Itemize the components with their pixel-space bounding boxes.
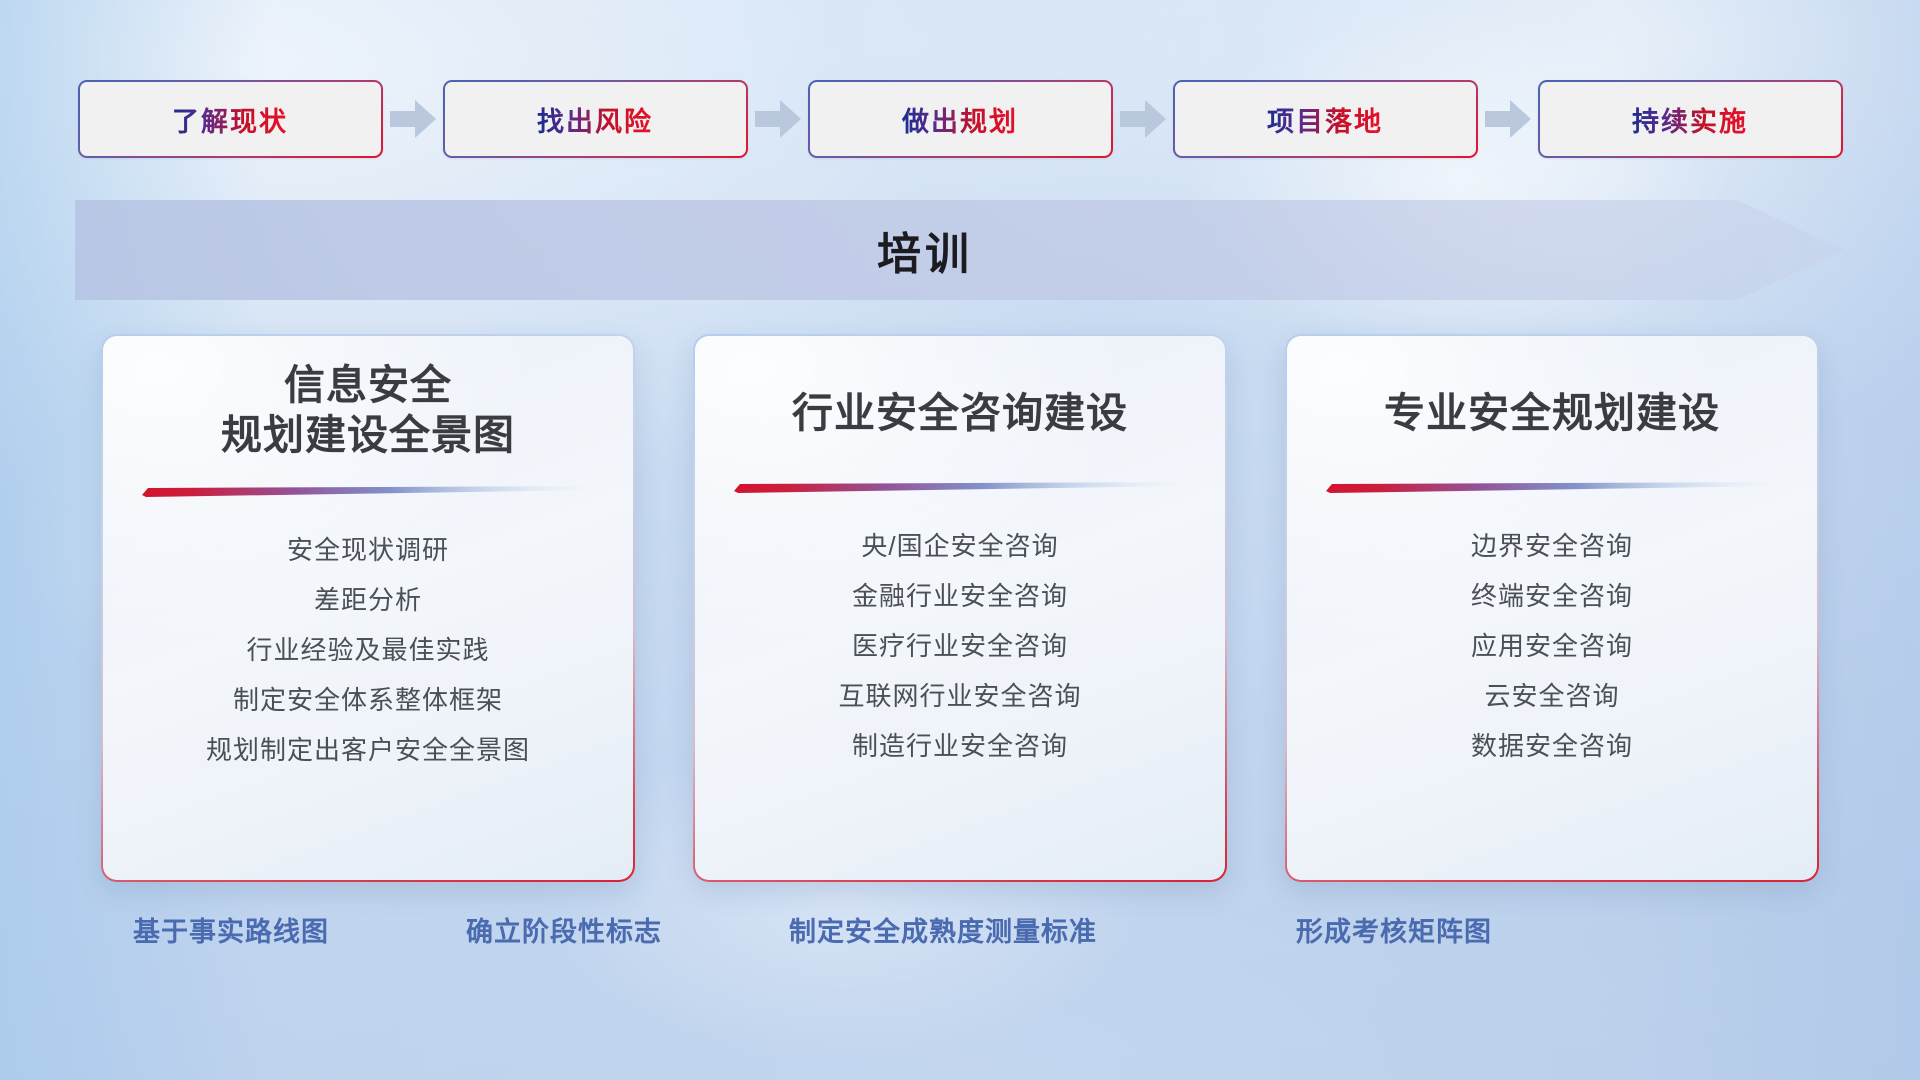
process-step-5-inner: 持续实施 <box>1540 82 1841 156</box>
right-arrow-icon <box>752 98 804 140</box>
list-item: 终端安全咨询 <box>1471 571 1633 621</box>
card-3-list: 边界安全咨询 终端安全咨询 应用安全咨询 云安全咨询 数据安全咨询 <box>1313 521 1791 771</box>
process-step-group-4: 项目落地 <box>1173 80 1538 158</box>
card-professional-security-planning[interactable]: 专业安全规划建设 <box>1285 334 1819 882</box>
process-step-5-label: 持续实施 <box>1632 100 1748 139</box>
process-step-3-label: 做出规划 <box>902 100 1018 139</box>
process-step-5[interactable]: 持续实施 <box>1538 80 1843 158</box>
process-step-2[interactable]: 找出风险 <box>443 80 748 158</box>
process-step-2-label: 找出风险 <box>537 100 653 139</box>
card-2-inner: 行业安全咨询建设 <box>695 336 1225 880</box>
card-3-inner: 专业安全规划建设 <box>1287 336 1817 880</box>
list-item: 差距分析 <box>314 575 422 625</box>
card-2-divider <box>734 482 1186 493</box>
footnote-4: 形成考核矩阵图 <box>1296 910 1492 949</box>
right-arrow-icon <box>1117 98 1169 140</box>
list-item: 行业经验及最佳实践 <box>246 625 489 675</box>
process-step-1-label: 了解现状 <box>172 100 288 139</box>
card-1-inner: 信息安全 规划建设全景图 <box>103 336 633 880</box>
process-step-group-5: 持续实施 <box>1538 80 1843 158</box>
process-step-group-3: 做出规划 <box>808 80 1173 158</box>
process-step-group-1: 了解现状 <box>78 80 443 158</box>
card-2-title-line1: 行业安全咨询建设 <box>792 390 1128 436</box>
banner-title: 培训 <box>75 200 1845 300</box>
process-step-1-inner: 了解现状 <box>80 82 381 156</box>
process-step-2-inner: 找出风险 <box>445 82 746 156</box>
training-banner: 培训 <box>75 200 1845 300</box>
list-item: 制定安全体系整体框架 <box>233 675 503 725</box>
list-item: 金融行业安全咨询 <box>852 571 1068 621</box>
footnote-2: 确立阶段性标志 <box>466 910 662 949</box>
card-industry-security-consulting[interactable]: 行业安全咨询建设 <box>693 334 1227 882</box>
card-3-divider <box>1326 482 1778 493</box>
list-item: 数据安全咨询 <box>1471 721 1633 771</box>
card-1-title: 信息安全 规划建设全景图 <box>129 360 607 460</box>
card-3-title-line1: 专业安全规划建设 <box>1384 390 1720 436</box>
list-item: 云安全咨询 <box>1484 671 1619 721</box>
list-item: 应用安全咨询 <box>1471 621 1633 671</box>
list-item: 边界安全咨询 <box>1471 521 1633 571</box>
card-information-security-blueprint[interactable]: 信息安全 规划建设全景图 <box>101 334 635 882</box>
card-2-title: 行业安全咨询建设 <box>721 388 1199 438</box>
list-item: 医疗行业安全咨询 <box>852 621 1068 671</box>
list-item: 规划制定出客户安全全景图 <box>206 725 530 775</box>
list-item: 互联网行业安全咨询 <box>838 671 1081 721</box>
card-1-title-line2: 规划建设全景图 <box>129 410 607 460</box>
card-3-title: 专业安全规划建设 <box>1313 388 1791 438</box>
list-item: 央/国企安全咨询 <box>861 521 1058 571</box>
right-arrow-icon <box>387 98 439 140</box>
process-step-group-2: 找出风险 <box>443 80 808 158</box>
list-item: 制造行业安全咨询 <box>852 721 1068 771</box>
card-2-list: 央/国企安全咨询 金融行业安全咨询 医疗行业安全咨询 互联网行业安全咨询 制造行… <box>721 521 1199 771</box>
process-step-4[interactable]: 项目落地 <box>1173 80 1478 158</box>
process-step-4-label: 项目落地 <box>1267 100 1383 139</box>
process-step-1[interactable]: 了解现状 <box>78 80 383 158</box>
process-step-3[interactable]: 做出规划 <box>808 80 1113 158</box>
card-row: 信息安全 规划建设全景图 <box>0 334 1920 882</box>
process-step-row: 了解现状 找出风险 做出规划 <box>0 78 1920 160</box>
process-step-4-inner: 项目落地 <box>1175 82 1476 156</box>
footnote-row: 基于事实路线图 确立阶段性标志 制定安全成熟度测量标准 形成考核矩阵图 <box>0 910 1920 964</box>
process-step-3-inner: 做出规划 <box>810 82 1111 156</box>
right-arrow-icon <box>1482 98 1534 140</box>
list-item: 安全现状调研 <box>287 525 449 575</box>
card-1-list: 安全现状调研 差距分析 行业经验及最佳实践 制定安全体系整体框架 规划制定出客户… <box>129 525 607 775</box>
footnote-1: 基于事实路线图 <box>133 910 329 949</box>
footnote-3: 制定安全成熟度测量标准 <box>789 910 1097 949</box>
card-1-divider <box>142 486 594 497</box>
card-1-title-line1: 信息安全 <box>284 362 452 408</box>
